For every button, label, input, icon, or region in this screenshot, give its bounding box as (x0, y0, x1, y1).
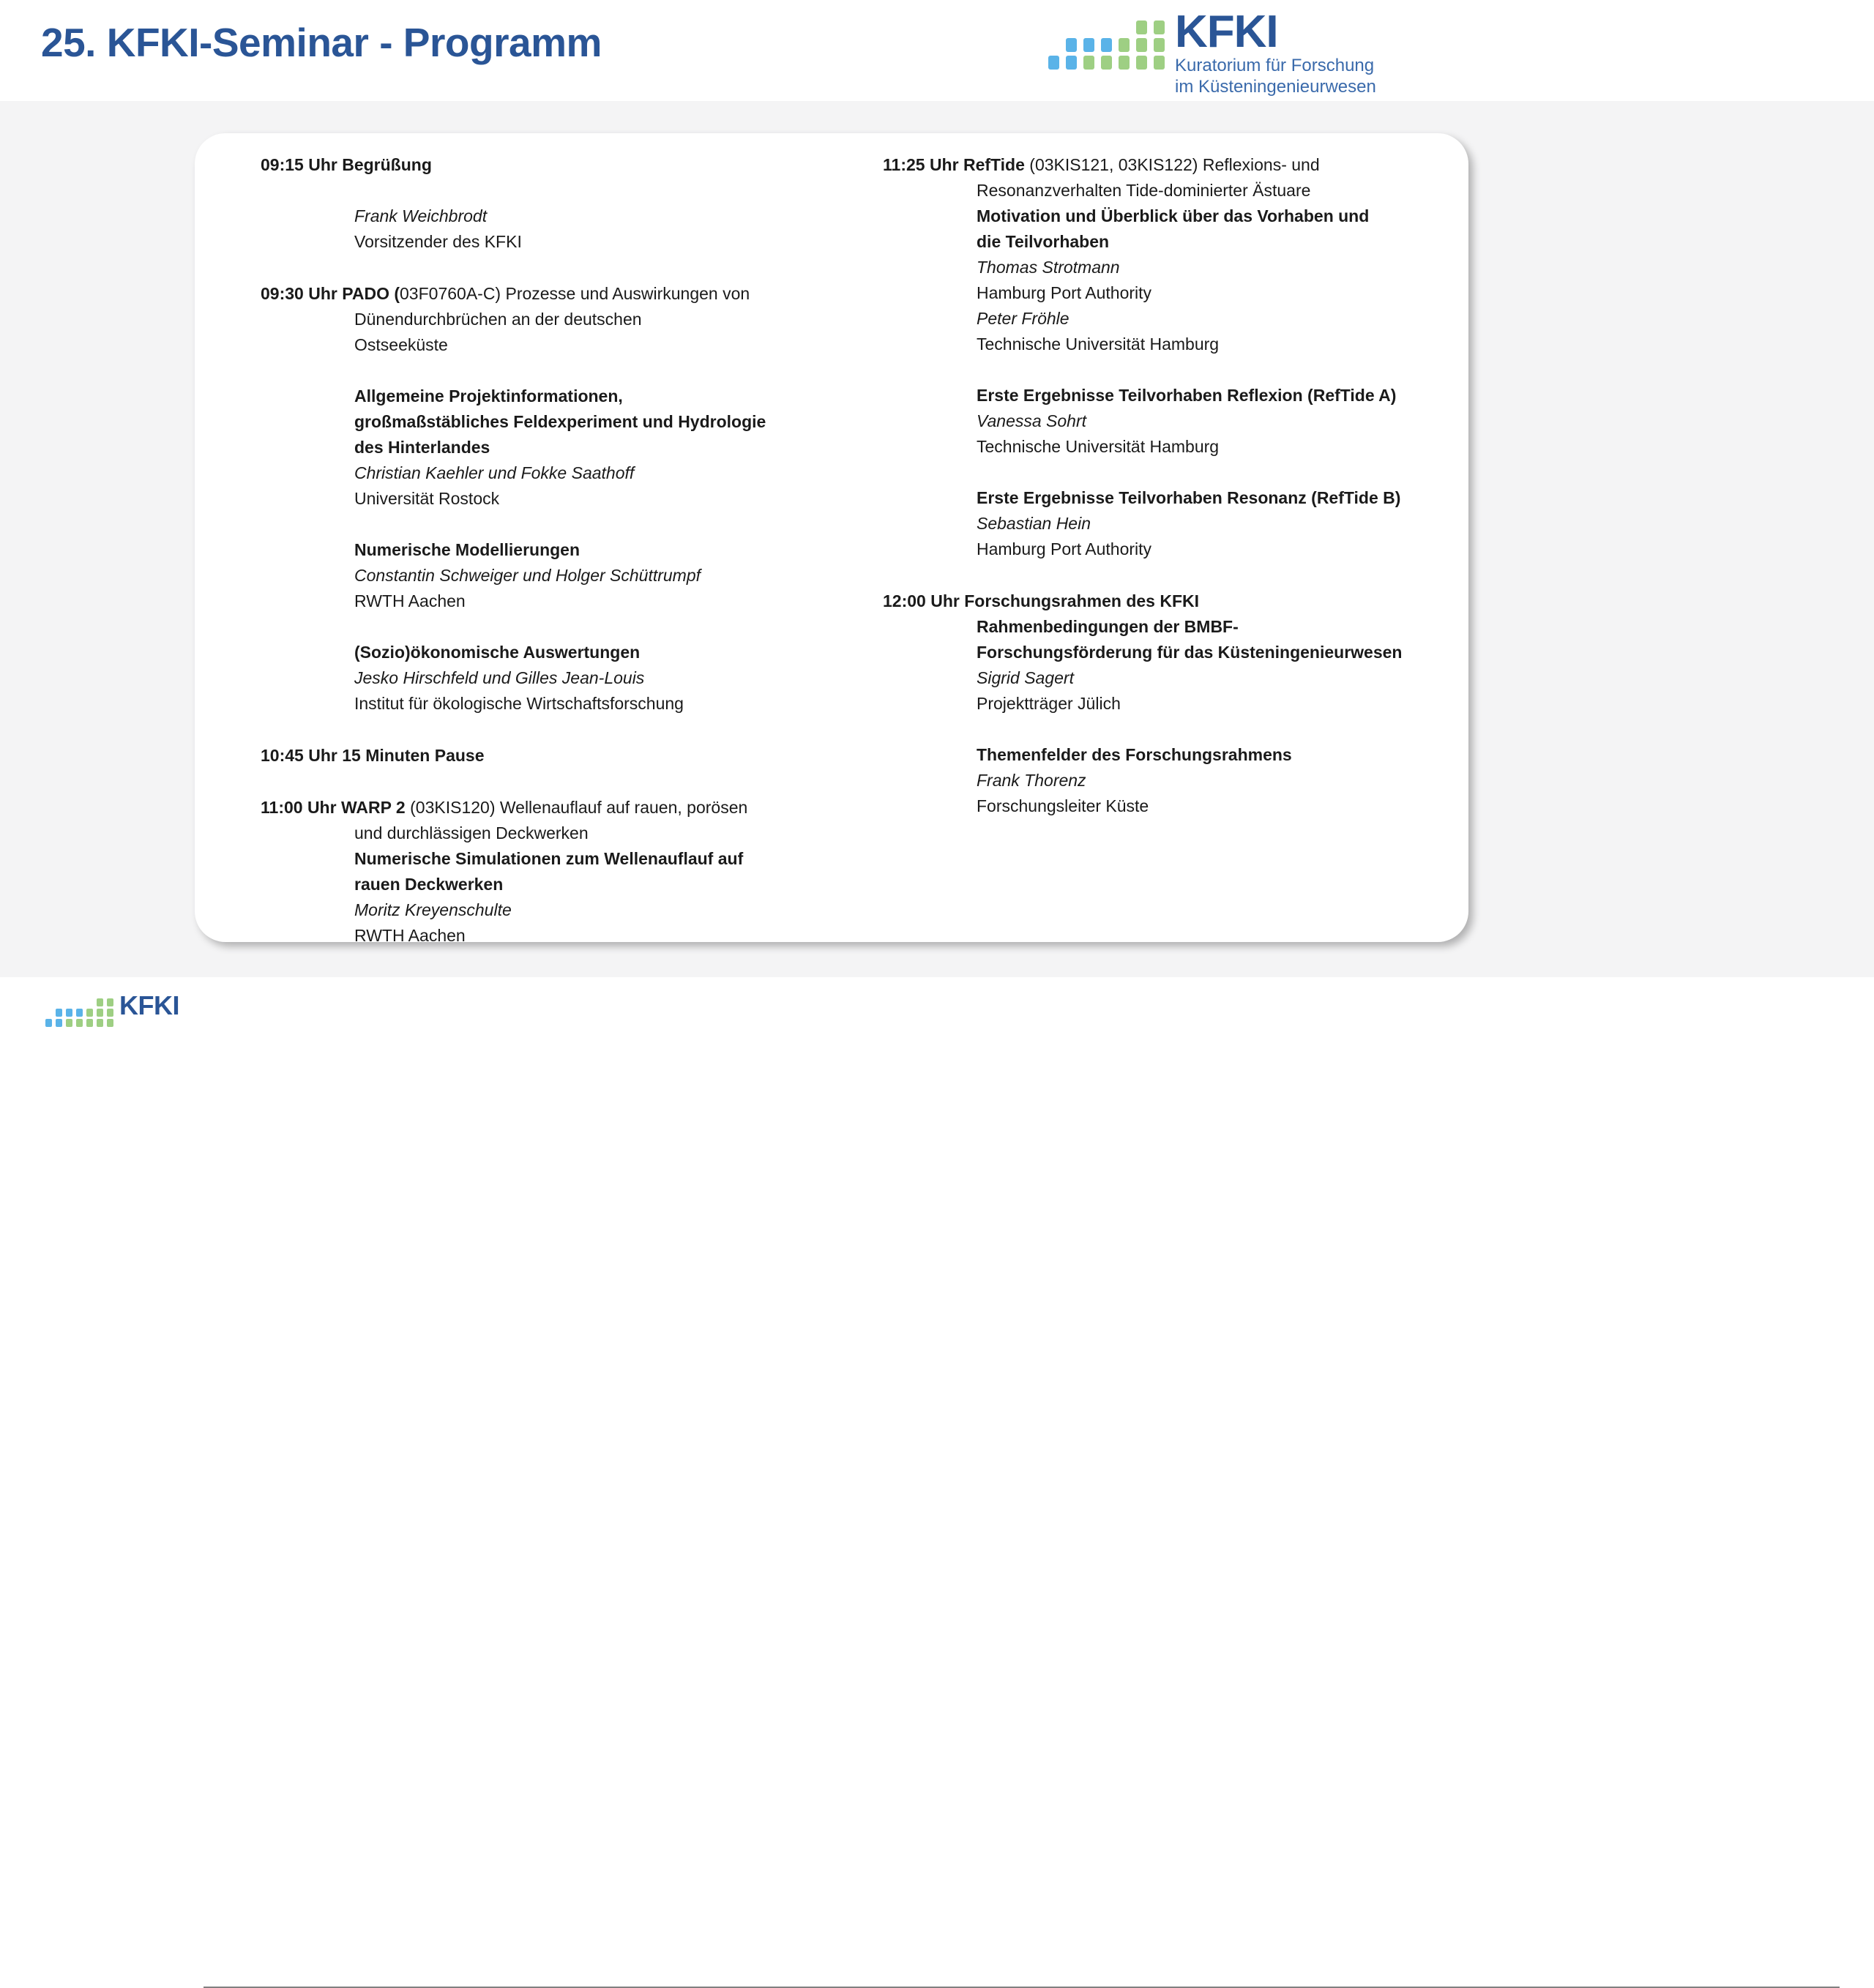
program-subtalk-title: Numerische Modellierungen (261, 537, 846, 563)
kfki-subtitle-line-1: Kuratorium für Forschung (1175, 56, 1376, 75)
program-entry-time: 09:30 Uhr (261, 284, 342, 303)
program-subtalk: Frank WeichbrodtVorsitzender des KFKI (261, 203, 846, 255)
kfki-logo: KFKI Kuratorium für Forschung im Küsteni… (1048, 10, 1376, 97)
program-speaker-name: Jesko Hirschfeld und Gilles Jean-Louis (261, 665, 846, 691)
program-subtalk-title: rauen Deckwerken (261, 872, 846, 897)
program-entry-title-bold: RefTide (963, 155, 1025, 174)
program-entry-title-rest: 03F0760A-C) Prozesse und Auswirkungen vo… (400, 284, 750, 303)
program-entry-headline: 09:15 Uhr Begrüßung (261, 152, 846, 178)
program-entry-headline: 12:00 Uhr Forschungsrahmen des KFKI (883, 588, 1439, 614)
program-entry-title-bold: WARP 2 (341, 798, 406, 817)
program-speaker-name: Vanessa Sohrt (883, 408, 1439, 434)
footer-dot-row-top (45, 998, 113, 1006)
program-entry-headline: 11:25 Uhr RefTide (03KIS121, 03KIS122) R… (883, 152, 1439, 178)
program-entry: 12:00 Uhr Forschungsrahmen des KFKIRahme… (883, 588, 1439, 819)
program-entry-time: 10:45 Uhr (261, 746, 342, 765)
program-speaker-name: Sebastian Hein (883, 511, 1439, 537)
footer-kfki-logo: KFKI (45, 993, 179, 1027)
program-entry-title-bold: PADO ( (342, 284, 400, 303)
program-entry-time: 12:00 Uhr (883, 591, 964, 610)
program-columns: 09:15 Uhr BegrüßungFrank WeichbrodtVorsi… (195, 133, 1468, 942)
program-subtalk: Allgemeine Projektinformationen,großmaßs… (261, 384, 846, 512)
program-speaker-name: Sigrid Sagert (883, 665, 1439, 691)
program-subtalk: Erste Ergebnisse Teilvorhaben Resonanz (… (883, 485, 1439, 562)
program-speaker-affiliation: Hamburg Port Authority (883, 537, 1439, 562)
page-footer: KFKI (0, 977, 1874, 1054)
program-speaker-affiliation: Technische Universität Hamburg (883, 332, 1439, 357)
program-speaker-affiliation: Institut für ökologische Wirtschaftsfors… (261, 691, 846, 717)
program-speaker-affiliation: Vorsitzender des KFKI (261, 229, 846, 255)
program-subtalk-title: Rahmenbedingungen der BMBF- (883, 614, 1439, 640)
footer-kfki-wordmark: KFKI (119, 993, 179, 1019)
program-entry-title-bold: 15 Minuten Pause (342, 746, 484, 765)
program-entry-title-rest: (03KIS121, 03KIS122) Reflexions- und (1025, 155, 1320, 174)
program-speaker-affiliation: RWTH Aachen (261, 588, 846, 614)
page-header: 25. KFKI-Seminar - Programm KFKI Kura (0, 0, 1874, 101)
program-speaker-name: Constantin Schweiger und Holger Schüttru… (261, 563, 846, 588)
program-entry-title-bold: Forschungsrahmen des KFKI (964, 591, 1199, 610)
program-subtalk: Rahmenbedingungen der BMBF-Forschungsför… (883, 614, 1439, 717)
program-entry-continuation: Dünendurchbrüchen an der deutschen (261, 307, 846, 332)
program-entry-title-rest: (03KIS120) Wellenauflauf auf rauen, porö… (406, 798, 748, 817)
program-speaker-name: Frank Thorenz (883, 768, 1439, 793)
program-subtalk: (Sozio)ökonomische AuswertungenJesko Hir… (261, 640, 846, 717)
kfki-logo-dotgrid-icon (1048, 20, 1165, 70)
program-speaker-affiliation: Technische Universität Hamburg (883, 434, 1439, 460)
kfki-wordmark: KFKI (1175, 10, 1376, 54)
program-entry-continuation: und durchlässigen Deckwerken (261, 821, 846, 846)
program-entry: 10:45 Uhr 15 Minuten Pause (261, 743, 846, 769)
program-entry-headline: 10:45 Uhr 15 Minuten Pause (261, 743, 846, 769)
footer-kfki-dotgrid-icon (45, 998, 113, 1027)
program-subtalk: Numerische ModellierungenConstantin Schw… (261, 537, 846, 614)
program-entry-title-bold: Begrüßung (342, 155, 432, 174)
program-entry-time: 11:00 Uhr (261, 798, 341, 817)
program-entry-continuation: Ostseeküste (261, 332, 846, 358)
program-speaker-name: Christian Kaehler und Fokke Saathoff (261, 460, 846, 486)
dot-row-middle (1048, 38, 1165, 52)
program-column-left: 09:15 Uhr BegrüßungFrank WeichbrodtVorsi… (261, 152, 846, 949)
program-subtalk-title: Allgemeine Projektinformationen, (261, 384, 846, 409)
program-speaker-affiliation: RWTH Aachen (261, 923, 846, 949)
program-entry-headline: 11:00 Uhr WARP 2 (03KIS120) Wellenauflau… (261, 795, 846, 821)
program-entry: 11:00 Uhr WARP 2 (03KIS120) Wellenauflau… (261, 795, 846, 949)
program-subtalk-title: Numerische Simulationen zum Wellenauflau… (261, 846, 846, 872)
program-speaker-name: Frank Weichbrodt (261, 203, 846, 229)
program-entry-headline: 09:30 Uhr PADO (03F0760A-C) Prozesse und… (261, 281, 846, 307)
program-entry-continuation: Resonanzverhalten Tide-dominierter Ästua… (883, 178, 1439, 203)
program-subtalk-title: des Hinterlandes (261, 435, 846, 460)
program-speaker-affiliation: Forschungsleiter Küste (883, 793, 1439, 819)
program-subtalk-title: Erste Ergebnisse Teilvorhaben Reflexion … (883, 383, 1439, 408)
program-speaker-affiliation: Hamburg Port Authority (883, 280, 1439, 306)
program-subtalk-title: Themenfelder des Forschungsrahmens (883, 742, 1439, 768)
program-subtalk: Erste Ergebnisse Teilvorhaben Reflexion … (883, 383, 1439, 460)
program-subtalk-title: Forschungsförderung für das Küsteningeni… (883, 640, 1439, 665)
program-entry: 09:15 Uhr BegrüßungFrank WeichbrodtVorsi… (261, 152, 846, 255)
program-subtalk-title: die Teilvorhaben (883, 229, 1439, 255)
program-subtalk: Motivation und Überblick über das Vorhab… (883, 203, 1439, 357)
program-subtalk-title: großmaßstäbliches Feldexperiment und Hyd… (261, 409, 846, 435)
kfki-subtitle-line-2: im Küsteningenieurwesen (1175, 77, 1376, 97)
footer-dot-row-middle (45, 1009, 113, 1017)
program-entry: 09:30 Uhr PADO (03F0760A-C) Prozesse und… (261, 281, 846, 717)
program-subtalk-title: Motivation und Überblick über das Vorhab… (883, 203, 1439, 229)
program-speaker-name: Thomas Strotmann (883, 255, 1439, 280)
program-entry-time: 11:25 Uhr (883, 155, 963, 174)
program-speaker-name: Moritz Kreyenschulte (261, 897, 846, 923)
program-subtalk-title: (Sozio)ökonomische Auswertungen (261, 640, 846, 665)
program-entry-time: 09:15 Uhr (261, 155, 342, 174)
footer-dot-row-bottom (45, 1019, 113, 1027)
program-speaker-affiliation: Universität Rostock (261, 486, 846, 512)
program-speaker-name: Peter Fröhle (883, 306, 1439, 332)
kfki-logo-text: KFKI Kuratorium für Forschung im Küsteni… (1175, 10, 1376, 97)
program-subtalk: Numerische Simulationen zum Wellenauflau… (261, 846, 846, 949)
dot-row-top (1048, 20, 1165, 34)
program-subtalk: Themenfelder des ForschungsrahmensFrank … (883, 742, 1439, 819)
program-subtalk-title: Erste Ergebnisse Teilvorhaben Resonanz (… (883, 485, 1439, 511)
program-entry: 11:25 Uhr RefTide (03KIS121, 03KIS122) R… (883, 152, 1439, 562)
dot-row-bottom (1048, 56, 1165, 70)
page-title: 25. KFKI-Seminar - Programm (41, 19, 602, 66)
program-card: 09:15 Uhr BegrüßungFrank WeichbrodtVorsi… (195, 133, 1468, 942)
program-column-right: 11:25 Uhr RefTide (03KIS121, 03KIS122) R… (883, 152, 1439, 819)
program-speaker-affiliation: Projektträger Jülich (883, 691, 1439, 717)
